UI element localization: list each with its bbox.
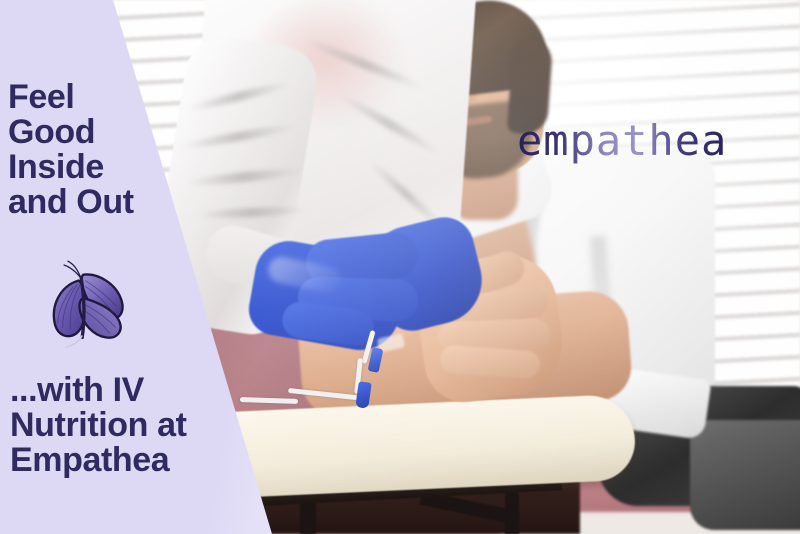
empathea-logo: empathea [517,112,767,170]
logo-text: empathea [517,116,727,165]
table-frame-leg-left [300,498,316,534]
headline-text: Feel Good Inside and Out [8,80,198,220]
patient-trousers-leg [690,420,800,530]
iv-nutrition-banner: Feel Good Inside and Out [0,0,800,534]
subheadline-text: ...with IV Nutrition at Empathea [10,373,230,478]
butterfly-icon [44,258,142,358]
